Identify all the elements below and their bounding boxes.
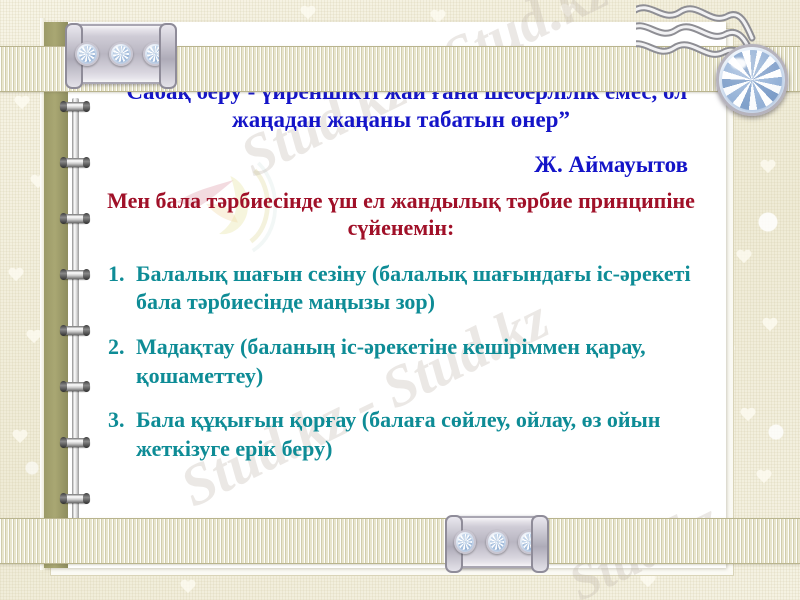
principles-list: Балалық шағын сезіну (балалық шағындағы … <box>96 260 706 464</box>
heart-decor-icon <box>736 250 752 264</box>
diamond-gem-icon <box>75 42 99 66</box>
ribbon-band-bottom <box>0 518 800 564</box>
list-item: Бала құқығын қорғау (балаға сөйлеу, ойла… <box>130 406 706 463</box>
spiral-ring-icon <box>60 326 90 335</box>
subtitle-text: Мен бала тәрбиесінде үш ел жандылық тәрб… <box>96 188 706 242</box>
diamond-gem-icon <box>143 42 167 66</box>
heart-decor-icon <box>756 470 772 484</box>
spiral-binding <box>62 98 88 550</box>
list-item: Балалық шағын сезіну (балалық шағындағы … <box>130 260 706 317</box>
heart-decor-icon <box>430 10 443 21</box>
gem-pendant-group <box>636 0 800 114</box>
heart-decor-icon <box>740 408 756 422</box>
heart-decor-icon <box>12 430 28 444</box>
heart-decor-icon <box>762 318 786 339</box>
slide-canvas: Stud.kz - Stud.kz Stud.kz - Stud.kz Stud… <box>0 0 800 600</box>
diamond-gem-icon <box>454 530 476 554</box>
heart-decor-icon <box>300 6 313 17</box>
spiral-ring-icon <box>60 438 90 447</box>
list-item-text: Бала құқығын қорғау (балаға сөйлеу, ойла… <box>136 406 706 463</box>
spiral-ring-icon <box>60 494 90 503</box>
spiral-ring-icon <box>60 382 90 391</box>
slide-content: “Сабақ беру - үйреншікті жай ғана шеберл… <box>96 78 706 479</box>
large-diamond-icon <box>716 44 788 116</box>
clasp-top <box>72 24 170 84</box>
heart-decor-icon <box>760 160 782 179</box>
heart-decor-icon <box>640 574 656 588</box>
list-item: Мадақтау (баланың іс-әрекетіне кешірімме… <box>130 333 706 390</box>
spiral-ring-icon <box>60 214 90 223</box>
heart-decor-icon <box>14 96 30 110</box>
list-item-text: Балалық шағын сезіну (балалық шағындағы … <box>136 260 706 317</box>
heart-decor-icon <box>8 268 24 282</box>
quote-author: Ж. Аймауытов <box>96 152 688 178</box>
spiral-ring-icon <box>60 158 90 167</box>
diamond-gem-icon <box>109 42 133 66</box>
diamond-gem-icon <box>486 530 508 554</box>
list-item-text: Мадақтау (баланың іс-әрекетіне кешірімме… <box>136 333 706 390</box>
heart-decor-icon <box>180 580 193 591</box>
spiral-ring-icon <box>60 102 90 111</box>
diamond-gem-icon <box>518 530 540 554</box>
spiral-ring-icon <box>60 270 90 279</box>
heart-decor-icon <box>560 4 573 15</box>
clasp-bottom <box>452 516 542 568</box>
